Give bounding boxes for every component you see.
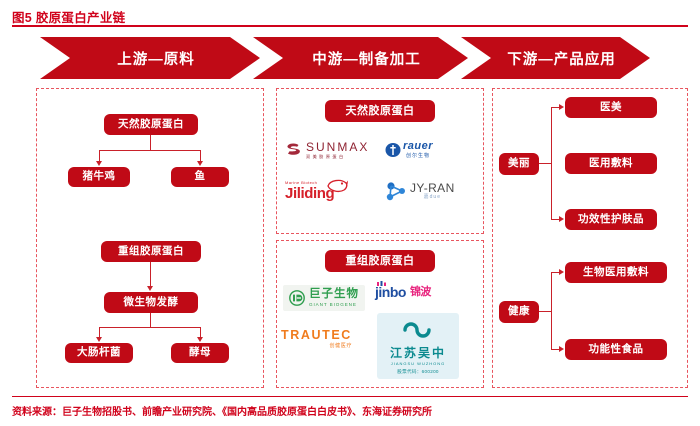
- upstream-panel: 天然胶原蛋白 猪牛鸡 鱼 重组胶原蛋白 微生物发酵 大肠杆菌: [36, 88, 264, 388]
- node-functional-food-label: 功能性食品: [589, 344, 644, 356]
- node-medical-dressing[interactable]: 医用敷料: [565, 153, 657, 174]
- node-biomedical-dressing-label: 生物医用敷料: [583, 267, 649, 279]
- page-title: 图5 胶原蛋白产业链: [12, 7, 125, 26]
- jiliding-fish-icon: [325, 177, 349, 195]
- trautec-name: TRAUTEC: [281, 329, 352, 342]
- arrow-natural-right: [197, 161, 203, 166]
- midstream-recombinant-panel: 重组胶原蛋白 巨子生物 GIANT BIOGENE jinbo 锦波: [276, 240, 484, 388]
- value-chain-banner: 上游—原料 中游—制备加工 下游—产品应用: [40, 37, 650, 79]
- wuzhong-logo-icon: [399, 318, 437, 342]
- giant-biogene-logo-icon: [289, 290, 305, 306]
- node-pig-cow-chicken[interactable]: 猪牛鸡: [68, 167, 130, 187]
- node-fish-label: 鱼: [195, 171, 206, 183]
- heading-natural-collagen[interactable]: 天然胶原蛋白: [325, 100, 435, 122]
- node-ecoli[interactable]: 大肠杆菌: [65, 343, 133, 363]
- wuzhong-name: 江苏吴中: [390, 344, 446, 361]
- company-logo-trautec[interactable]: TRAUTEC 创健医疗: [281, 329, 352, 349]
- jinbo-subtitle: 锦波: [410, 287, 431, 298]
- node-natural-collagen-label: 天然胶原蛋白: [118, 119, 184, 131]
- figure-container: 图5 胶原蛋白产业链 上游—原料 中游—制备加工 下游—产品应用 天然胶原蛋白 …: [0, 0, 700, 426]
- connector-beauty-spine: [551, 107, 552, 220]
- heading-recombinant-collagen-label: 重组胶原蛋白: [346, 255, 415, 267]
- footer-divider: [12, 396, 688, 397]
- arrow-health-1: [559, 269, 564, 275]
- heading-natural-collagen-label: 天然胶原蛋白: [346, 105, 415, 117]
- node-pig-cow-chicken-label: 猪牛鸡: [83, 171, 116, 183]
- sunmax-subtitle: 双美胶原蛋白: [306, 155, 369, 159]
- node-beauty-label: 美丽: [508, 158, 530, 170]
- arrow-beauty-3: [559, 216, 564, 222]
- wuzhong-stock-code: 股票代码：600200: [397, 369, 439, 375]
- downstream-panel: 美丽 医美 医用敷料 功效性护肤品 健康 生物医用敷料 功能性食品: [492, 88, 688, 388]
- jyran-name: JY-RAN: [410, 182, 455, 194]
- jinbo-accent-icon: [377, 281, 389, 287]
- company-logo-jiangsu-wuzhong[interactable]: 江苏吴中 JIANGSU WUZHONG 股票代码：600200: [377, 313, 459, 379]
- node-medical-dressing-label: 医用敷料: [589, 158, 633, 170]
- connector-natural-stem: [150, 135, 151, 151]
- arrow-ferment-right: [197, 337, 203, 342]
- node-recombinant-collagen-label: 重组胶原蛋白: [118, 246, 184, 258]
- node-ecoli-label: 大肠杆菌: [77, 347, 121, 359]
- connector-ferment-stem: [150, 313, 151, 328]
- jinbo-name: jinbo: [375, 285, 406, 299]
- node-microbial-fermentation[interactable]: 微生物发酵: [104, 292, 198, 313]
- source-note: 资料来源：巨子生物招股书、前瞻产业研究院、《国内高品质胶原蛋白白皮书》、东海证券…: [12, 403, 432, 418]
- node-natural-collagen[interactable]: 天然胶原蛋白: [104, 114, 198, 135]
- company-logo-jiliding[interactable]: Marine Biotech Jiliding: [285, 181, 334, 201]
- stage-upstream-label: 上游—原料: [117, 48, 195, 69]
- stage-downstream[interactable]: 下游—产品应用: [461, 37, 650, 79]
- node-recombinant-collagen[interactable]: 重组胶原蛋白: [101, 241, 201, 262]
- company-logo-sunmax[interactable]: SUNMAX 双美胶原蛋白: [285, 141, 369, 159]
- node-beauty[interactable]: 美丽: [499, 153, 539, 175]
- giant-biogene-name: 巨子生物: [309, 289, 359, 301]
- connector-health-spine: [551, 272, 552, 350]
- connector-natural-bar: [99, 150, 201, 151]
- node-functional-skincare[interactable]: 功效性护肤品: [565, 209, 657, 230]
- node-biomedical-dressing[interactable]: 生物医用敷料: [565, 262, 667, 283]
- company-logo-giant-biogene[interactable]: 巨子生物 GIANT BIOGENE: [283, 285, 365, 311]
- arrow-recomb-stem: [147, 286, 153, 291]
- stage-midstream[interactable]: 中游—制备加工: [253, 37, 468, 79]
- jyran-subtitle: 嘉due: [410, 195, 455, 200]
- node-fish[interactable]: 鱼: [171, 167, 229, 187]
- node-medical-aesthetics[interactable]: 医美: [565, 97, 657, 118]
- trauer-logo-icon: [385, 142, 401, 158]
- sunmax-name: SUNMAX: [306, 141, 369, 153]
- arrow-beauty-1: [559, 104, 564, 110]
- company-logo-trauer[interactable]: rauer 创尔生物: [385, 141, 433, 159]
- wuzhong-en-name: JIANGSU WUZHONG: [391, 361, 446, 366]
- node-health-label: 健康: [508, 306, 530, 318]
- connector-ferment-bar: [99, 327, 201, 328]
- node-functional-skincare-label: 功效性护肤品: [578, 214, 644, 226]
- company-logo-jyran[interactable]: JY-RAN 嘉due: [385, 181, 455, 201]
- company-logo-jinbo[interactable]: jinbo 锦波: [375, 285, 431, 299]
- connector-recomb-stem: [150, 262, 151, 287]
- giant-biogene-subtitle: GIANT BIOGENE: [309, 303, 359, 308]
- node-health[interactable]: 健康: [499, 301, 539, 323]
- node-functional-food[interactable]: 功能性食品: [565, 339, 667, 360]
- midstream-natural-panel: 天然胶原蛋白 SUNMAX 双美胶原蛋白 rauer 创尔生物: [276, 88, 484, 234]
- trautec-subtitle: 创健医疗: [281, 344, 352, 349]
- node-microbial-fermentation-label: 微生物发酵: [124, 297, 179, 309]
- jyran-molecule-icon: [385, 181, 407, 201]
- trauer-name: rauer: [403, 141, 433, 152]
- node-yeast-label: 酵母: [189, 347, 211, 359]
- title-divider: [12, 25, 688, 27]
- heading-recombinant-collagen[interactable]: 重组胶原蛋白: [325, 250, 435, 272]
- stage-upstream[interactable]: 上游—原料: [40, 37, 260, 79]
- node-medical-aesthetics-label: 医美: [600, 102, 622, 114]
- stage-downstream-label: 下游—产品应用: [507, 48, 616, 69]
- arrow-health-2: [559, 346, 564, 352]
- sunmax-logo-icon: [285, 142, 302, 158]
- stage-midstream-label: 中游—制备加工: [312, 48, 421, 69]
- arrow-ferment-left: [96, 337, 102, 342]
- trauer-subtitle: 创尔生物: [403, 154, 433, 159]
- arrow-natural-left: [96, 161, 102, 166]
- node-yeast[interactable]: 酵母: [171, 343, 229, 363]
